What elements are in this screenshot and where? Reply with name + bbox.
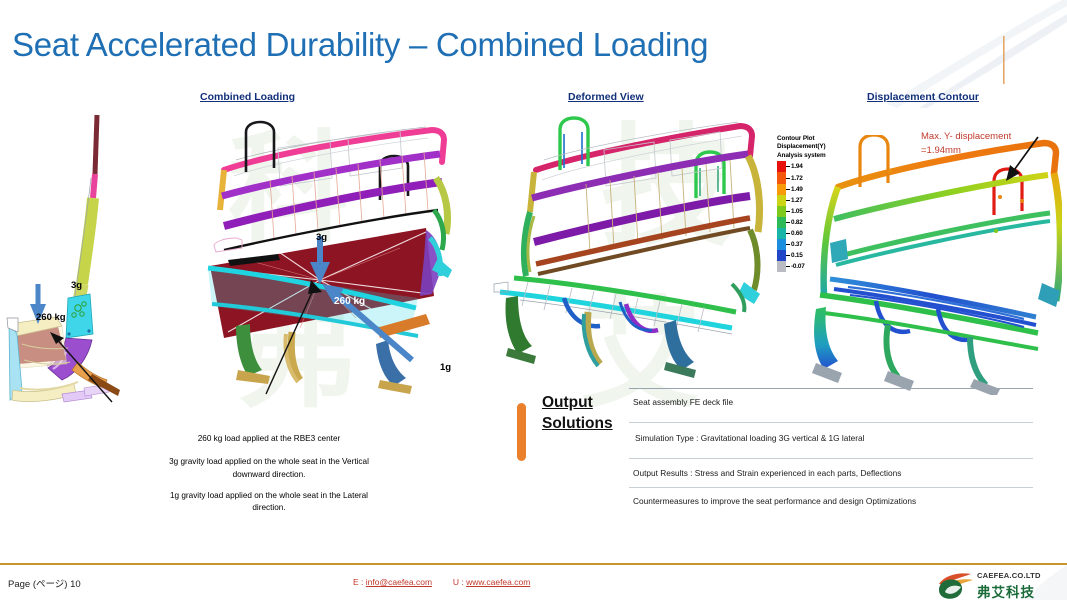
company-logo: CAEFEA.CO.LTD 弗艾科技 xyxy=(933,569,1061,600)
contour-swatch xyxy=(777,239,786,250)
contour-swatch xyxy=(777,161,786,172)
footer: Page (ページ) 10 E : info@caefea.com U : ww… xyxy=(0,565,1067,600)
output-solutions-row: Simulation Type : Gravitational loading … xyxy=(629,423,1033,459)
load-note: 3g gravity load applied on the whole sea… xyxy=(150,456,388,481)
email-link[interactable]: info@caefea.com xyxy=(366,577,432,587)
contour-swatch xyxy=(777,217,786,228)
fe-model-displacement-contour xyxy=(790,135,1062,395)
url-prefix-label: U : xyxy=(453,577,464,587)
logo-text: CAEFEA.CO.LTD 弗艾科技 xyxy=(977,571,1041,600)
page-number-label: Page (ページ) 10 xyxy=(8,576,81,590)
fe-model-seat-front-view xyxy=(180,118,470,398)
output-solutions-row: Output Results : Stress and Strain exper… xyxy=(629,459,1033,488)
label-260kg-front: 260 kg xyxy=(334,296,365,307)
output-solutions-heading: Output Solutions xyxy=(542,393,634,435)
footer-contact: E : info@caefea.com U : www.caefea.com xyxy=(353,577,530,587)
email-prefix-label: E : xyxy=(353,577,363,587)
output-solutions-row: Countermeasures to improve the seat perf… xyxy=(629,488,1033,512)
output-solutions-rows: Seat assembly FE deck file Simulation Ty… xyxy=(629,388,1033,511)
label-260kg-side: 260 kg xyxy=(36,312,66,323)
logo-mark xyxy=(935,570,975,600)
website-link[interactable]: www.caefea.com xyxy=(466,577,530,587)
output-solutions-accent-bar xyxy=(517,403,526,461)
load-note: 1g gravity load applied on the whole sea… xyxy=(150,490,388,515)
contour-swatch xyxy=(777,184,786,195)
load-note: 260 kg load applied at the RBE3 center xyxy=(150,433,388,445)
label-3g-front: 3g xyxy=(316,232,327,243)
page-title: Seat Accelerated Durability – Combined L… xyxy=(12,26,708,64)
panel-caption-combined-loading: Combined Loading xyxy=(200,91,295,103)
contour-swatch xyxy=(777,250,786,261)
label-3g-side: 3g xyxy=(71,280,82,291)
panel-caption-deformed-view: Deformed View xyxy=(568,91,644,103)
slide-canvas: 科 技 弗 艾 Seat Accelerated Durability – Co… xyxy=(0,0,1067,600)
panel-caption-displacement-contour: Displacement Contour xyxy=(867,91,979,103)
logo-text-en: CAEFEA.CO.LTD xyxy=(977,571,1041,580)
load-notes-block: 260 kg load applied at the RBE3 center 3… xyxy=(150,433,388,523)
label-1g-front: 1g xyxy=(440,362,451,373)
contour-swatch xyxy=(777,206,786,217)
contour-swatch xyxy=(777,261,786,272)
contour-swatch xyxy=(777,172,786,183)
logo-text-cn: 弗艾科技 xyxy=(977,581,1041,600)
contour-swatch xyxy=(777,195,786,206)
fe-model-deformed-view xyxy=(492,112,772,397)
contour-swatch xyxy=(777,228,786,239)
output-solutions-row: Seat assembly FE deck file xyxy=(629,389,1033,423)
